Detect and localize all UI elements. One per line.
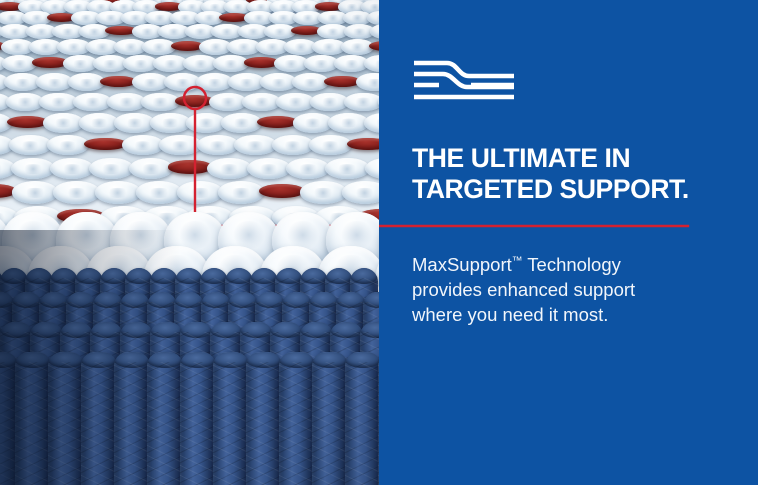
white-coil-cap [141,93,180,112]
coil-row [0,113,379,133]
white-coil-cap [272,135,315,156]
white-coil-cap [213,55,248,72]
red-accent-coil-cap [168,160,212,173]
coil-row [0,24,379,40]
navy-pocket-coil [279,352,315,485]
white-coil-cap [177,181,223,203]
navy-pocket-coil [345,352,379,485]
white-coil-cap [129,158,173,179]
white-coil-cap [122,135,165,156]
white-coil-cap [344,93,379,112]
white-coil-cap [186,113,227,133]
white-coil-cap [12,181,58,203]
white-coil-cap [342,181,379,203]
coil-row [0,135,379,156]
white-coil-cap [364,55,379,72]
headline-line-1: THE ULTIMATE IN [412,143,742,174]
white-coil-cap [43,113,84,133]
white-coil-cap [89,158,133,179]
body-line-1-rest: Technology [522,254,620,275]
navy-pocket-coil [312,352,348,485]
body-copy: MaxSupport™ Technology provides enhanced… [412,252,712,327]
navy-pocket-coil [81,352,117,485]
white-coil-cap [136,181,182,203]
coil-row [0,73,379,91]
red-accent-coil-cap [84,138,127,151]
ad-banner: THE ULTIMATE IN TARGETED SUPPORT. MaxSup… [0,0,758,485]
content-panel: THE ULTIMATE IN TARGETED SUPPORT. MaxSup… [379,0,758,485]
navy-pocket-coil [246,352,282,485]
white-coil-cap [207,158,251,179]
product-name: MaxSupport [412,254,512,275]
red-accent-coil-cap [7,116,48,128]
white-coil-cap [11,158,55,179]
white-coil-cap [286,158,330,179]
white-coil-cap [47,135,90,156]
coil-row [0,158,379,179]
coil-row [0,181,379,203]
white-coil-cap [53,181,99,203]
coil-row [0,55,379,72]
mattress-coil-photo [0,0,379,485]
white-coil-cap [234,135,277,156]
white-coil-cap [9,135,52,156]
red-accent-coil-cap [347,138,380,151]
white-coil-cap [300,181,346,203]
wave-lines-logo-icon [413,57,515,103]
headline: THE ULTIMATE IN TARGETED SUPPORT. [412,143,742,205]
coil-row [0,39,379,55]
white-coil-cap [356,73,379,91]
navy-coil-row [0,352,379,485]
red-accent-coil-cap [259,184,305,198]
white-coil-cap [218,181,264,203]
white-coil-cap [247,158,291,179]
white-coil-cap [293,113,334,133]
white-coil-cap [364,113,379,133]
white-coil-cap [221,113,262,133]
white-coil-cap [309,135,352,156]
coil-row [0,93,379,112]
white-coil-cap [150,113,191,133]
white-coil-cap [328,113,369,133]
red-accent-coil-cap [175,95,214,107]
navy-pocket-coil [378,352,379,485]
body-line-2: provides enhanced support [412,277,712,302]
white-coil-cap [159,135,202,156]
red-accent-coil-cap [257,116,298,128]
navy-pocket-coil [180,352,216,485]
white-coil-cap [50,158,94,179]
white-coil-cap [114,113,155,133]
white-coil-cap [95,181,141,203]
white-coil-cap [325,158,369,179]
white-coil-cap [79,113,120,133]
white-coil-cap [365,158,379,179]
body-line-1: MaxSupport™ Technology [412,252,712,277]
navy-pocket-coil [15,352,51,485]
navy-pocket-coil [114,352,150,485]
headline-line-2: TARGETED SUPPORT. [412,174,742,205]
body-line-3: where you need it most. [412,302,712,327]
navy-pocket-coil [48,352,84,485]
navy-pocket-coil [147,352,183,485]
navy-pocket-coil [213,352,249,485]
trademark-symbol: ™ [512,255,523,267]
white-coil-cap [197,135,240,156]
